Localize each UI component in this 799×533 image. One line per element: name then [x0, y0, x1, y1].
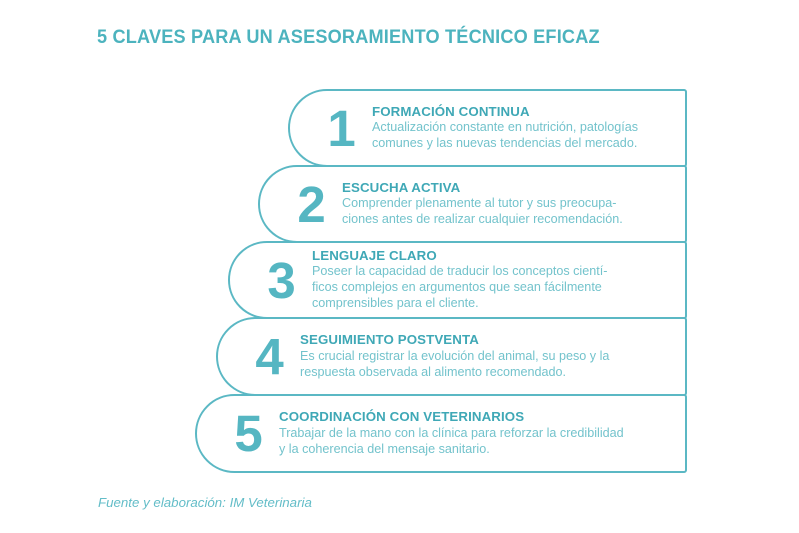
step-body-line: Comprender plenamente al tutor y sus pre… [342, 196, 673, 212]
step-body-1: Actualización constante en nutrición, pa… [372, 120, 673, 152]
step-number-3: 3 [252, 255, 310, 306]
step-heading-2: ESCUCHA ACTIVA [342, 180, 673, 195]
step-text-4: SEGUIMIENTO POSTVENTA Es crucial registr… [300, 332, 685, 380]
step-item-1: 1 FORMACIÓN CONTINUA Actualización const… [288, 89, 687, 167]
step-body-line: y la coherencia del mensaje sanitario. [279, 442, 673, 458]
step-body-2: Comprender plenamente al tutor y sus pre… [342, 196, 673, 228]
step-text-2: ESCUCHA ACTIVA Comprender plenamente al … [342, 180, 685, 228]
step-body-line: ciones antes de realizar cualquier recom… [342, 212, 673, 228]
step-heading-3: LENGUAJE CLARO [312, 248, 673, 263]
step-heading-4: SEGUIMIENTO POSTVENTA [300, 332, 673, 347]
step-number-1: 1 [312, 103, 370, 154]
step-number-2: 2 [282, 179, 340, 230]
step-body-line: Trabajar de la mano con la clínica para … [279, 426, 673, 442]
step-body-4: Es crucial registrar la evolución del an… [300, 349, 673, 381]
source-attribution: Fuente y elaboración: IM Veterinaria [98, 495, 312, 510]
step-body-line: comprensibles para el cliente. [312, 296, 673, 312]
step-body-line: Actualización constante en nutrición, pa… [372, 120, 673, 136]
step-body-line: Poseer la capacidad de traducir los conc… [312, 264, 673, 280]
step-number-5: 5 [219, 408, 277, 459]
step-body-line: ficos complejos en argumentos que sean f… [312, 280, 673, 296]
step-item-2: 2 ESCUCHA ACTIVA Comprender plenamente a… [258, 165, 687, 243]
step-item-5: 5 COORDINACIÓN CON VETERINARIOS Trabajar… [195, 394, 687, 473]
step-text-5: COORDINACIÓN CON VETERINARIOS Trabajar d… [279, 409, 685, 457]
step-body-line: respuesta observada al alimento recomend… [300, 365, 673, 381]
step-body-3: Poseer la capacidad de traducir los conc… [312, 264, 673, 312]
step-body-5: Trabajar de la mano con la clínica para … [279, 426, 673, 458]
infographic-canvas: 5 CLAVES PARA UN ASESORAMIENTO TÉCNICO E… [0, 0, 799, 533]
step-number-4: 4 [240, 331, 298, 382]
step-text-3: LENGUAJE CLARO Poseer la capacidad de tr… [312, 248, 685, 312]
step-heading-5: COORDINACIÓN CON VETERINARIOS [279, 409, 673, 424]
step-item-3: 3 LENGUAJE CLARO Poseer la capacidad de … [228, 241, 687, 319]
step-item-4: 4 SEGUIMIENTO POSTVENTA Es crucial regis… [216, 317, 687, 396]
steps-stack: 1 FORMACIÓN CONTINUA Actualización const… [0, 0, 799, 533]
step-text-1: FORMACIÓN CONTINUA Actualización constan… [372, 104, 685, 152]
step-body-line: comunes y las nuevas tendencias del merc… [372, 136, 673, 152]
step-body-line: Es crucial registrar la evolución del an… [300, 349, 673, 365]
step-heading-1: FORMACIÓN CONTINUA [372, 104, 673, 119]
